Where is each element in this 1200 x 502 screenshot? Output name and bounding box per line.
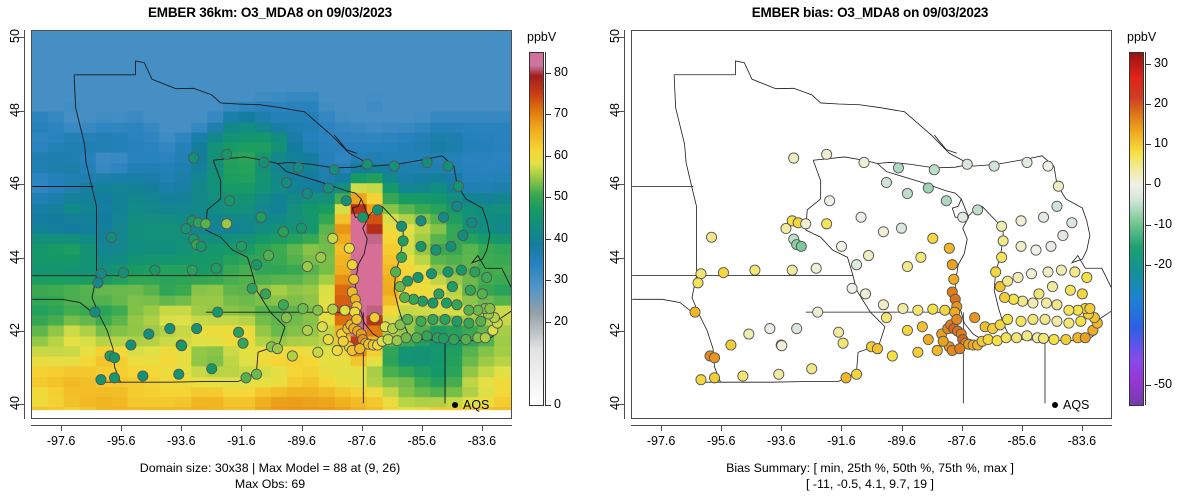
aqs-legend-label: AQS: [1063, 398, 1089, 412]
aqs-site-marker: [1028, 298, 1038, 308]
aqs-site-marker: [408, 294, 418, 304]
aqs-site-marker: [426, 269, 436, 279]
aqs-site-marker: [400, 292, 410, 302]
aqs-site-marker: [962, 159, 972, 169]
x-tick: [841, 425, 842, 431]
aqs-site-marker: [1038, 333, 1048, 343]
aqs-site-marker: [349, 274, 359, 284]
state-boundary: [206, 160, 253, 275]
aqs-site-marker: [313, 347, 323, 357]
x-tick: [962, 425, 963, 431]
aqs-site-marker: [355, 344, 365, 354]
aqs-site-marker: [422, 157, 432, 167]
aqs-site-marker: [352, 314, 362, 324]
state-boundary: [632, 299, 696, 312]
x-tick: [482, 425, 483, 431]
aqs-site-marker: [928, 304, 938, 314]
x-tick: [1082, 425, 1083, 431]
aqs-site-marker: [941, 196, 951, 206]
colorbar-tick: [545, 197, 551, 198]
aqs-site-marker: [887, 351, 897, 361]
x-tick: [422, 425, 423, 431]
state-boundary: [92, 276, 120, 383]
aqs-site-marker: [878, 300, 888, 310]
x-tick: [1022, 425, 1023, 431]
aqs-site-marker: [397, 221, 407, 231]
y-tick-label: 46: [608, 168, 622, 198]
state-boundary: [904, 112, 1057, 185]
state-boundary: [334, 135, 356, 153]
aqs-site-marker: [1047, 282, 1057, 292]
y-tick-label: 44: [608, 242, 622, 272]
aqs-site-marker: [807, 364, 817, 374]
x-tick-label: -97.6: [631, 434, 691, 448]
panel-title-bias: EMBER bias: O3_MDA8 on 09/03/2023: [600, 5, 1140, 20]
aqs-site-marker: [997, 221, 1007, 231]
aqs-site-marker: [138, 371, 148, 381]
x-tick: [181, 425, 182, 431]
x-tick-label: -83.6: [1052, 434, 1112, 448]
aqs-site-marker: [789, 153, 799, 163]
aqs-site-marker: [949, 274, 959, 284]
state-boundary: [74, 75, 96, 276]
aqs-site-marker: [706, 232, 716, 242]
aqs-site-marker: [916, 252, 926, 262]
aqs-site-marker: [302, 261, 312, 271]
aqs-site-marker: [938, 336, 948, 346]
aqs-site-marker: [461, 334, 471, 344]
y-tick-label: 40: [608, 388, 622, 418]
aqs-site-marker: [952, 314, 962, 324]
colorbar-tick: [545, 156, 551, 157]
aqs-site-marker: [281, 177, 291, 187]
state-boundary: [32, 299, 96, 312]
x-tick-label: -91.6: [811, 434, 871, 448]
aqs-site-marker: [813, 307, 823, 317]
y-tick-label: 50: [608, 21, 622, 51]
aqs-site-marker: [332, 345, 342, 355]
aqs-site-marker: [929, 165, 939, 175]
aqs-dot-icon: [452, 402, 458, 408]
aqs-site-marker: [973, 205, 983, 215]
x-tick: [121, 425, 122, 431]
colorbar-tick: [545, 73, 551, 74]
x-tick: [721, 425, 722, 431]
aqs-site-marker: [236, 241, 246, 251]
colorbar-tick-label: 60: [554, 148, 568, 162]
aqs-site-marker: [1008, 294, 1018, 304]
aqs-site-marker: [1011, 333, 1021, 343]
colorbar-tick: [545, 405, 551, 406]
aqs-site-marker: [881, 313, 891, 323]
aqs-site-marker: [836, 241, 846, 251]
aqs-site-marker: [416, 241, 426, 251]
aqs-site-marker: [401, 333, 411, 343]
x-tick: [362, 425, 363, 431]
colorbar-tick: [545, 239, 551, 240]
aqs-site-marker: [247, 283, 257, 293]
aqs-site-marker: [453, 181, 463, 191]
aqs-site-marker: [323, 334, 333, 344]
aqs-site-marker: [1053, 181, 1063, 191]
aqs-site-marker: [983, 334, 993, 344]
aqs-site-marker: [1017, 296, 1027, 306]
aqs-site-marker: [913, 347, 923, 357]
aqs-site-marker: [467, 218, 477, 228]
aqs-site-marker: [923, 334, 933, 344]
aqs-site-marker: [440, 314, 450, 324]
model-colorbar-unit: ppbV: [527, 30, 556, 44]
state-boundary: [704, 381, 838, 382]
colorbar-tick: [1145, 385, 1151, 386]
aqs-site-marker: [852, 260, 862, 270]
aqs-site-marker: [238, 338, 248, 348]
aqs-site-marker: [1001, 333, 1011, 343]
aqs-site-marker: [1046, 241, 1056, 251]
aqs-site-marker: [389, 161, 399, 171]
colorbar-tick-label: 20: [1154, 96, 1168, 110]
aqs-site-marker: [109, 353, 119, 363]
aqs-site-marker: [416, 316, 426, 326]
aqs-site-marker: [1076, 316, 1086, 326]
aqs-site-marker: [174, 369, 184, 379]
aqs-site-marker: [287, 351, 297, 361]
y-tick-label: 48: [608, 95, 622, 125]
aqs-site-marker: [787, 265, 797, 275]
state-boundary: [74, 61, 304, 112]
aqs-site-marker: [738, 371, 748, 381]
aqs-site-marker: [144, 329, 154, 339]
aqs-site-marker: [302, 325, 312, 335]
aqs-site-marker: [896, 223, 906, 233]
aqs-site-marker: [403, 314, 413, 324]
aqs-site-marker: [917, 322, 927, 332]
model-plot-area: [31, 30, 512, 419]
aqs-site-marker: [822, 149, 832, 159]
aqs-site-marker: [838, 338, 848, 348]
aqs-site-marker: [109, 373, 119, 383]
aqs-site-marker: [792, 323, 802, 333]
aqs-legend-model: AQS: [452, 398, 489, 412]
aqs-site-marker: [465, 285, 475, 295]
aqs-site-marker: [207, 364, 217, 374]
aqs-site-marker: [344, 243, 354, 253]
aqs-site-marker: [106, 232, 116, 242]
aqs-site-marker: [928, 233, 938, 243]
aqs-site-marker: [118, 268, 128, 278]
panel-bias: EMBER bias: O3_MDA8 on 09/03/2023 AQS Bi…: [600, 0, 1200, 502]
x-tick: [241, 425, 242, 431]
aqs-site-marker: [211, 263, 221, 273]
x-tick-label: -95.6: [691, 434, 751, 448]
colorbar-tick-label: 0: [1154, 176, 1161, 190]
aqs-site-marker: [1043, 161, 1053, 171]
y-tick-label: 50: [8, 21, 22, 51]
colorbar-tick: [545, 114, 551, 115]
colorbar-tick-label: 0: [554, 397, 561, 411]
bias-colorbar-unit: ppbV: [1127, 30, 1156, 44]
aqs-site-marker: [841, 373, 851, 383]
aqs-site-marker: [422, 331, 432, 341]
bias-colorbar: [1129, 52, 1144, 406]
aqs-site-marker: [947, 260, 957, 270]
aqs-site-marker: [1041, 298, 1051, 308]
aqs-site-marker: [860, 289, 870, 299]
colorbar-tick: [1145, 225, 1151, 226]
state-boundary: [104, 381, 238, 382]
aqs-site-marker: [189, 153, 199, 163]
aqs-site-marker: [1016, 241, 1026, 251]
aqs-site-marker: [431, 245, 441, 255]
state-boundary: [674, 61, 904, 112]
aqs-site-marker: [96, 269, 106, 279]
aqs-site-marker: [252, 369, 262, 379]
x-tick-label: -89.6: [272, 434, 332, 448]
aqs-site-marker: [452, 300, 462, 310]
state-boundary: [806, 160, 853, 275]
aqs-site-marker: [443, 161, 453, 171]
colorbar-tick-label: 40: [554, 231, 568, 245]
colorbar-tick-label: 80: [554, 65, 568, 79]
aqs-site-marker: [998, 236, 1008, 246]
aqs-legend-bias: AQS: [1052, 398, 1089, 412]
state-boundary: [304, 112, 457, 185]
aqs-site-marker: [1082, 272, 1092, 282]
x-tick-label: -95.6: [91, 434, 151, 448]
aqs-site-marker: [225, 196, 235, 206]
aqs-site-marker: [1052, 300, 1062, 310]
aqs-site-marker: [222, 149, 232, 159]
colorbar-tick-label: 70: [554, 106, 568, 120]
x-tick-label: -85.6: [392, 434, 452, 448]
aqs-site-marker: [458, 230, 468, 240]
model-map-overlay: [32, 31, 511, 418]
x-tick: [61, 425, 62, 431]
y-tick-label: 42: [8, 315, 22, 345]
aqs-site-marker: [470, 267, 480, 277]
colorbar-tick: [545, 280, 551, 281]
aqs-site-marker: [955, 344, 965, 354]
aqs-site-marker: [485, 303, 495, 313]
aqs-site-marker: [347, 260, 357, 270]
colorbar-tick-label: 30: [1154, 56, 1168, 70]
aqs-site-marker: [997, 252, 1007, 262]
aqs-site-marker: [316, 252, 326, 262]
aqs-site-marker: [777, 341, 787, 351]
aqs-site-marker: [718, 268, 728, 278]
aqs-site-marker: [428, 314, 438, 324]
aqs-site-marker: [298, 303, 308, 313]
colorbar-tick: [1145, 144, 1151, 145]
aqs-site-marker: [1052, 201, 1062, 211]
aqs-site-marker: [825, 196, 835, 206]
aqs-site-marker: [1016, 216, 1026, 226]
aqs-site-marker: [1070, 267, 1080, 277]
aqs-site-marker: [446, 241, 456, 251]
aqs-site-marker: [313, 305, 323, 315]
aqs-site-marker: [362, 159, 372, 169]
aqs-site-marker: [1080, 333, 1090, 343]
aqs-site-marker: [452, 201, 462, 211]
aqs-site-marker: [881, 177, 891, 187]
aqs-site-marker: [958, 212, 968, 222]
state-boundary: [674, 75, 696, 276]
y-axis-line: [24, 30, 25, 419]
y-tick-label: 42: [608, 315, 622, 345]
aqs-site-marker: [1003, 276, 1013, 286]
aqs-site-marker: [259, 157, 269, 167]
aqs-site-marker: [370, 313, 380, 323]
x-tick: [661, 425, 662, 431]
colorbar-tick-label: -50: [1154, 377, 1172, 391]
bias-map-overlay: [632, 31, 1111, 418]
x-axis-line: [31, 425, 512, 426]
aqs-site-marker: [260, 289, 270, 299]
aqs-site-marker: [177, 341, 187, 351]
aqs-dot-icon: [1052, 402, 1058, 408]
colorbar-tick-label: 20: [554, 314, 568, 328]
colorbar-tick-label: 30: [554, 272, 568, 286]
y-tick-label: 48: [8, 95, 22, 125]
aqs-site-marker: [1034, 289, 1044, 299]
aqs-site-marker: [811, 263, 821, 273]
aqs-site-marker: [932, 345, 942, 355]
aqs-site-marker: [150, 265, 160, 275]
aqs-site-marker: [256, 212, 266, 222]
aqs-site-marker: [696, 375, 706, 385]
aqs-site-marker: [744, 329, 754, 339]
aqs-site-marker: [296, 223, 306, 233]
y-axis-line: [624, 30, 625, 419]
state-boundary: [213, 157, 370, 168]
aqs-site-marker: [1031, 245, 1041, 255]
model-caption-line1: Domain size: 30x38 | Max Model = 88 at (…: [0, 461, 540, 475]
aqs-site-marker: [340, 305, 350, 315]
aqs-site-marker: [923, 183, 933, 193]
state-boundary: [692, 276, 720, 383]
aqs-site-marker: [913, 305, 923, 315]
aqs-site-marker: [464, 318, 474, 328]
aqs-site-marker: [1026, 269, 1036, 279]
aqs-site-marker: [898, 303, 908, 313]
aqs-site-marker: [126, 340, 136, 350]
aqs-site-marker: [328, 304, 338, 314]
x-axis-line: [631, 425, 1112, 426]
aqs-site-marker: [863, 250, 873, 260]
aqs-site-marker: [1040, 314, 1050, 324]
aqs-site-marker: [902, 261, 912, 271]
aqs-site-marker: [438, 212, 448, 222]
x-tick-label: -89.6: [872, 434, 932, 448]
x-tick-label: -91.6: [211, 434, 271, 448]
aqs-site-marker: [940, 305, 950, 315]
bias-plot-area: [631, 30, 1112, 419]
aqs-site-marker: [456, 265, 466, 275]
y-tick-label: 40: [8, 388, 22, 418]
aqs-site-marker: [872, 344, 882, 354]
bias-caption-line1: Bias Summary: [ min, 25th %, 50th %, 75t…: [600, 461, 1140, 475]
aqs-site-marker: [293, 163, 303, 173]
x-tick-label: -87.6: [332, 434, 392, 448]
aqs-site-marker: [196, 241, 206, 251]
x-tick-label: -85.6: [992, 434, 1052, 448]
aqs-site-marker: [323, 183, 333, 193]
y-tick-label: 44: [8, 242, 22, 272]
aqs-site-marker: [480, 333, 490, 343]
colorbar-tick-label: 10: [1154, 136, 1168, 150]
colorbar-tick: [545, 322, 551, 323]
aqs-site-marker: [403, 276, 413, 286]
x-tick-label: -93.6: [151, 434, 211, 448]
aqs-site-marker: [1000, 292, 1010, 302]
x-tick: [781, 425, 782, 431]
aqs-site-marker: [383, 334, 393, 344]
aqs-site-marker: [441, 298, 451, 308]
aqs-site-marker: [476, 316, 486, 326]
aqs-site-marker: [1064, 318, 1074, 328]
colorbar-tick-label: -20: [1154, 257, 1172, 271]
state-boundary: [934, 135, 956, 153]
aqs-site-marker: [1058, 230, 1068, 240]
aqs-site-marker: [852, 369, 862, 379]
colorbar-tick: [1145, 265, 1151, 266]
aqs-site-marker: [447, 282, 457, 292]
aqs-site-marker: [822, 219, 832, 229]
aqs-site-marker: [989, 161, 999, 171]
aqs-site-marker: [902, 325, 912, 335]
aqs-site-marker: [397, 252, 407, 262]
colorbar-tick: [1145, 184, 1151, 185]
aqs-site-marker: [449, 334, 459, 344]
aqs-site-marker: [341, 196, 351, 206]
aqs-site-marker: [411, 333, 421, 343]
aqs-site-marker: [391, 267, 401, 277]
aqs-site-marker: [750, 265, 760, 275]
aqs-site-marker: [278, 300, 288, 310]
colorbar-tick: [1145, 104, 1151, 105]
aqs-site-marker: [856, 212, 866, 222]
aqs-site-marker: [1049, 334, 1059, 344]
aqs-site-marker: [1038, 212, 1048, 222]
aqs-site-marker: [438, 333, 448, 343]
aqs-site-marker: [1028, 314, 1038, 324]
aqs-site-marker: [878, 227, 888, 237]
aqs-site-marker: [187, 265, 197, 275]
aqs-site-marker: [944, 243, 954, 253]
x-tick-label: -97.6: [31, 434, 91, 448]
aqs-site-marker: [1003, 314, 1013, 324]
aqs-site-marker: [317, 322, 327, 332]
aqs-site-marker: [90, 307, 100, 317]
aqs-site-marker: [302, 188, 312, 198]
aqs-site-marker: [165, 323, 175, 333]
y-tick-label: 46: [8, 168, 22, 198]
model-colorbar-axis: [545, 52, 546, 405]
aqs-site-marker: [452, 316, 462, 326]
aqs-site-marker: [398, 236, 408, 246]
aqs-site-marker: [222, 219, 232, 229]
aqs-site-marker: [93, 278, 103, 288]
aqs-site-marker: [1067, 218, 1077, 228]
aqs-site-marker: [428, 298, 438, 308]
aqs-site-marker: [1077, 289, 1087, 299]
aqs-site-marker: [1085, 303, 1095, 313]
colorbar-tick: [1145, 64, 1151, 65]
aqs-site-marker: [96, 375, 106, 385]
bias-caption-line2: [ -11, -0.5, 4.1, 9.7, 19 ]: [600, 477, 1140, 491]
aqs-site-marker: [726, 340, 736, 350]
aqs-site-marker: [1064, 305, 1074, 315]
